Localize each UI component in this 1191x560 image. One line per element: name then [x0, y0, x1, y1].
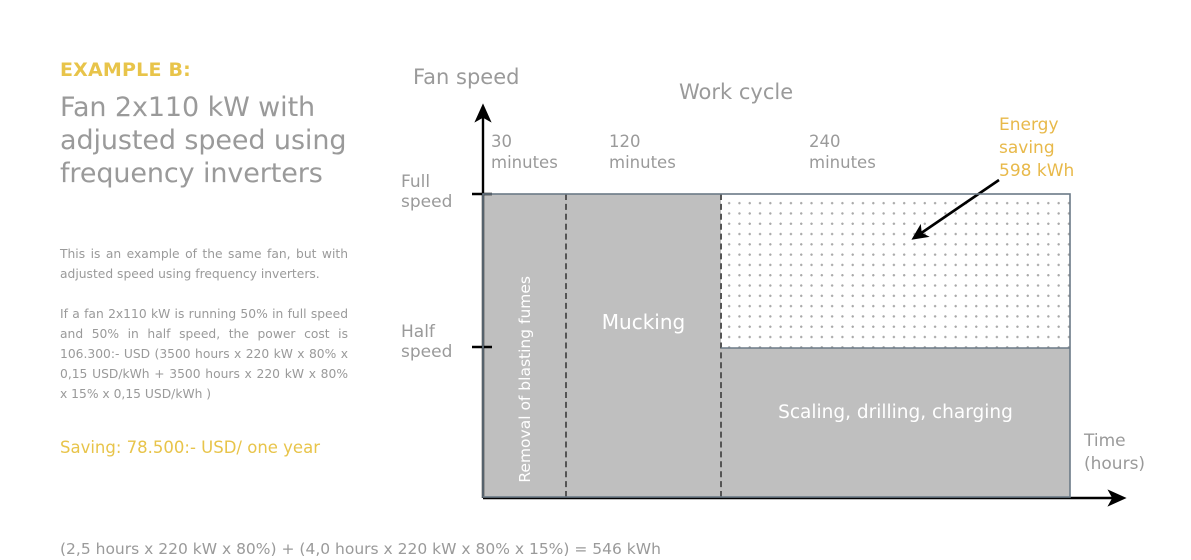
chart-axes — [0, 0, 1191, 560]
work-cycle-chart: Fan speed Work cycle Time (hours) Full s… — [0, 0, 1191, 560]
